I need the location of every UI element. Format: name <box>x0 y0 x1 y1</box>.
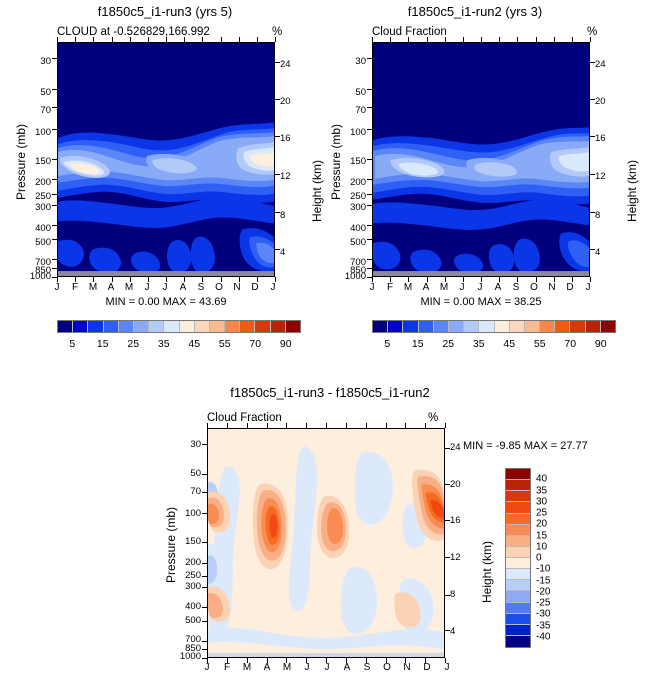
axis-tick <box>130 37 131 42</box>
panel-difference-plot <box>207 428 445 658</box>
axis-tick <box>166 37 167 42</box>
panel-run3-header: CLOUD at -0.526829,166.992 <box>57 26 210 38</box>
colorbar-cell-4 <box>434 321 449 332</box>
axis-tick <box>52 179 57 180</box>
colorbar-label-90: 90 <box>595 338 607 350</box>
axis-tick <box>517 37 518 42</box>
axis-tick <box>275 37 276 42</box>
axis-tick <box>427 277 428 282</box>
axis-tick <box>93 37 94 42</box>
htick-12: 12 <box>595 172 606 182</box>
axis-tick <box>202 587 207 588</box>
axis-tick <box>346 658 347 663</box>
axis-tick <box>517 277 518 282</box>
xlab-jan2: J <box>581 283 595 293</box>
axis-tick <box>445 484 450 485</box>
axis-tick <box>52 194 57 195</box>
colorbar-diff-cell-4 <box>506 514 530 525</box>
axis-tick <box>148 37 149 42</box>
figure-canvas: f1850c5_i1-run3 (yrs 5) CLOUD at -0.5268… <box>0 0 647 676</box>
axis-tick <box>425 423 426 428</box>
panel-run2-plot <box>372 42 590 277</box>
xlab-dec: D <box>420 663 434 673</box>
colorbar-diff-label-neg25: -25 <box>536 598 550 609</box>
axis-tick <box>52 58 57 59</box>
ytick-30: 30 <box>17 57 51 67</box>
colorbar-label-55: 55 <box>534 338 546 350</box>
colorbar-cell-13 <box>570 321 585 332</box>
colorbar-diff-cell-0 <box>506 469 530 480</box>
colorbar-cell-5 <box>449 321 464 332</box>
ytick-300: 300 <box>332 203 366 213</box>
axis-tick <box>52 268 57 269</box>
panel-run3-title: f1850c5_i1-run3 (yrs 5) <box>40 4 290 19</box>
axis-tick <box>267 658 268 663</box>
colorbar-label-25: 25 <box>127 338 139 350</box>
htick-16: 16 <box>450 516 461 526</box>
axis-tick <box>408 37 409 42</box>
colorbar-diff-cell-3 <box>506 502 530 513</box>
colorbar-label-35: 35 <box>473 338 485 350</box>
axis-tick <box>463 37 464 42</box>
xlab-feb: F <box>383 283 397 293</box>
axis-tick <box>463 277 464 282</box>
colorbar-diff-cell-7 <box>506 547 530 558</box>
xlab-nov: N <box>400 663 414 673</box>
colorbar-diff-cell-11 <box>506 591 530 602</box>
xlab-jul: J <box>473 283 487 293</box>
colorbar-cell-1 <box>388 321 403 332</box>
xlab-feb: F <box>220 663 234 673</box>
colorbar-cell-8 <box>495 321 510 332</box>
axis-tick <box>306 658 307 663</box>
colorbar-cell-0 <box>58 321 73 332</box>
axis-tick <box>52 205 57 206</box>
ytick-30: 30 <box>167 440 201 450</box>
colorbar-difference[interactable] <box>505 468 531 648</box>
axis-tick <box>445 658 446 663</box>
ytick-50: 50 <box>17 88 51 98</box>
colorbar-label-45: 45 <box>188 338 200 350</box>
xlab-sep: S <box>509 283 523 293</box>
xlab-dec: D <box>248 283 262 293</box>
colorbar-diff-label-35: 35 <box>536 485 547 496</box>
panel-difference-units: % <box>428 412 438 424</box>
axis-tick <box>221 277 222 282</box>
axis-tick <box>554 37 555 42</box>
axis-tick <box>202 513 207 514</box>
xlab-apr: A <box>104 283 118 293</box>
xlab-sep: S <box>360 663 374 673</box>
axis-tick <box>275 136 280 137</box>
xlab-oct: O <box>527 283 541 293</box>
axis-tick <box>202 576 207 577</box>
colorbar-cell-12 <box>555 321 570 332</box>
colorbar-diff-cell-2 <box>506 491 530 502</box>
colorbar-diff-cell-9 <box>506 569 530 580</box>
axis-tick <box>52 225 57 226</box>
colorbar-cell-6 <box>464 321 479 332</box>
axis-tick <box>202 542 207 543</box>
colorbar-diff-label-neg40: -40 <box>536 631 550 642</box>
axis-tick <box>247 658 248 663</box>
colorbar-cell-9 <box>195 321 210 332</box>
panel-run2-contour-field <box>373 43 589 276</box>
ytick-500: 500 <box>332 238 366 248</box>
colorbar-cell-14 <box>586 321 601 332</box>
xlab-mar: M <box>401 283 415 293</box>
colorbar-diff-label-30: 30 <box>536 496 547 507</box>
axis-tick <box>346 423 347 428</box>
colorbar-diff-label-20: 20 <box>536 519 547 530</box>
colorbar-diff-cell-12 <box>506 603 530 614</box>
axis-tick <box>286 423 287 428</box>
xlab-jan: J <box>365 283 379 293</box>
htick-4: 4 <box>450 627 455 637</box>
axis-tick <box>366 658 367 663</box>
panel-run2-units: % <box>587 26 597 38</box>
xlab-mar: M <box>240 663 254 673</box>
axis-tick <box>427 37 428 42</box>
axis-tick <box>481 277 482 282</box>
colorbar-cell-13 <box>255 321 270 332</box>
axis-tick <box>239 37 240 42</box>
axis-tick <box>445 595 450 596</box>
ytick-400: 400 <box>167 602 201 612</box>
colorbar-label-5: 5 <box>384 338 390 350</box>
axis-tick <box>405 423 406 428</box>
axis-tick <box>590 277 591 282</box>
htick-24: 24 <box>450 443 461 453</box>
axis-tick <box>536 277 537 282</box>
colorbar-cell-2 <box>403 321 418 332</box>
axis-tick <box>52 89 57 90</box>
htick-24: 24 <box>280 60 291 70</box>
axis-tick <box>367 129 372 130</box>
axis-tick <box>202 492 207 493</box>
axis-tick <box>445 448 450 449</box>
colorbar-diff-cell-13 <box>506 614 530 625</box>
xlab-aug: A <box>340 663 354 673</box>
axis-tick <box>425 658 426 663</box>
axis-tick <box>207 423 208 428</box>
ytick-1000: 1000 <box>327 272 366 282</box>
colorbar-diff-label-neg10: -10 <box>536 564 550 575</box>
colorbar-label-15: 15 <box>412 338 424 350</box>
axis-tick <box>572 37 573 42</box>
htick-20: 20 <box>595 97 606 107</box>
axis-tick <box>590 212 595 213</box>
ytick-300: 300 <box>17 203 51 213</box>
axis-tick <box>405 658 406 663</box>
axis-tick <box>257 277 258 282</box>
axis-tick <box>536 37 537 42</box>
colorbar-diff-label-25: 25 <box>536 508 547 519</box>
xlab-feb: F <box>68 283 82 293</box>
panel-run3-minmax: MIN = 0.00 MAX = 43.69 <box>57 296 275 308</box>
axis-tick <box>221 37 222 42</box>
axis-tick <box>367 205 372 206</box>
axis-tick <box>367 194 372 195</box>
colorbar-label-70: 70 <box>564 338 576 350</box>
axis-tick <box>572 277 573 282</box>
colorbar-cell-2 <box>88 321 103 332</box>
axis-tick <box>267 423 268 428</box>
colorbar-label-5: 5 <box>69 338 75 350</box>
xlab-nov: N <box>545 283 559 293</box>
colorbar-diff-label-neg30: -30 <box>536 609 550 620</box>
axis-tick <box>52 159 57 160</box>
htick-8: 8 <box>280 211 285 221</box>
htick-4: 4 <box>595 248 600 258</box>
htick-16: 16 <box>595 134 606 144</box>
axis-tick <box>52 239 57 240</box>
axis-tick <box>239 277 240 282</box>
panel-difference-minmax: MIN = -9.85 MAX = 27.77 <box>463 440 638 452</box>
axis-tick <box>554 277 555 282</box>
colorbar-diff-cell-6 <box>506 536 530 547</box>
colorbar-label-90: 90 <box>280 338 292 350</box>
axis-tick <box>52 277 57 278</box>
axis-tick <box>386 423 387 428</box>
xlab-jul: J <box>158 283 172 293</box>
axis-tick <box>202 607 207 608</box>
colorbar-diff-label-40: 40 <box>536 474 547 485</box>
ytick-1000: 1000 <box>12 272 51 282</box>
colorbar-diff-cell-15 <box>506 636 530 647</box>
ytick-70: 70 <box>17 106 51 116</box>
panel-run3-plot <box>57 42 275 277</box>
axis-tick <box>367 268 372 269</box>
colorbar-run3[interactable] <box>57 320 301 333</box>
axis-tick <box>275 212 280 213</box>
axis-tick <box>367 259 372 260</box>
axis-tick <box>326 423 327 428</box>
colorbar-cell-7 <box>164 321 179 332</box>
axis-tick <box>184 277 185 282</box>
axis-tick <box>227 658 228 663</box>
axis-tick <box>275 99 280 100</box>
axis-tick <box>367 239 372 240</box>
axis-tick <box>367 179 372 180</box>
colorbar-cell-3 <box>419 321 434 332</box>
htick-20: 20 <box>450 480 461 490</box>
colorbar-cell-9 <box>510 321 525 332</box>
panel-run2-minmax: MIN = 0.00 MAX = 38.25 <box>372 296 590 308</box>
axis-tick <box>112 277 113 282</box>
colorbar-run2[interactable] <box>372 320 616 333</box>
xlab-jul: J <box>320 663 334 673</box>
colorbar-diff-label-10: 10 <box>536 541 547 552</box>
ytick-50: 50 <box>167 469 201 479</box>
axis-tick <box>372 277 373 282</box>
axis-tick <box>202 37 203 42</box>
axis-tick <box>184 37 185 42</box>
colorbar-label-70: 70 <box>249 338 261 350</box>
colorbar-cell-11 <box>225 321 240 332</box>
axis-tick <box>445 423 446 428</box>
htick-24: 24 <box>595 60 606 70</box>
axis-tick <box>499 37 500 42</box>
xlab-jun: J <box>140 283 154 293</box>
xlab-mar: M <box>86 283 100 293</box>
axis-tick <box>202 649 207 650</box>
axis-tick <box>227 423 228 428</box>
xlab-jun: J <box>455 283 469 293</box>
panel-difference-ylabel-right: Height (km) <box>480 541 494 603</box>
colorbar-cell-6 <box>149 321 164 332</box>
colorbar-cell-10 <box>210 321 225 332</box>
axis-tick <box>445 277 446 282</box>
colorbar-cell-3 <box>104 321 119 332</box>
axis-tick <box>257 37 258 42</box>
colorbar-label-15: 15 <box>97 338 109 350</box>
axis-tick <box>499 277 500 282</box>
panel-difference-header: Cloud Fraction <box>207 412 282 424</box>
panel-difference-contour-field <box>208 429 444 657</box>
axis-tick <box>367 225 372 226</box>
xlab-jan2: J <box>440 663 454 673</box>
ytick-300: 300 <box>167 582 201 592</box>
colorbar-cell-15 <box>286 321 300 332</box>
panel-run3-contour-field <box>58 43 274 276</box>
axis-tick <box>202 563 207 564</box>
ytick-1000: 1000 <box>162 652 201 662</box>
panel-difference-ylabel-left: Pressure (mb) <box>164 507 178 583</box>
axis-tick <box>367 107 372 108</box>
ytick-500: 500 <box>17 238 51 248</box>
axis-tick <box>207 658 208 663</box>
htick-16: 16 <box>280 134 291 144</box>
colorbar-cell-1 <box>73 321 88 332</box>
colorbar-cell-11 <box>540 321 555 332</box>
xlab-sep: S <box>194 283 208 293</box>
ytick-70: 70 <box>332 106 366 116</box>
axis-tick <box>590 99 595 100</box>
colorbar-cell-5 <box>134 321 149 332</box>
axis-tick <box>306 423 307 428</box>
htick-12: 12 <box>280 172 291 182</box>
axis-tick <box>112 37 113 42</box>
axis-tick <box>367 277 372 278</box>
colorbar-cell-14 <box>271 321 286 332</box>
colorbar-diff-cell-8 <box>506 558 530 569</box>
colorbar-cell-8 <box>180 321 195 332</box>
axis-tick <box>275 249 280 250</box>
axis-tick <box>75 37 76 42</box>
colorbar-label-25: 25 <box>442 338 454 350</box>
axis-tick <box>202 658 207 659</box>
axis-tick <box>57 277 58 282</box>
axis-tick <box>275 62 280 63</box>
axis-tick <box>367 58 372 59</box>
axis-tick <box>166 277 167 282</box>
xlab-nov: N <box>230 283 244 293</box>
axis-tick <box>286 658 287 663</box>
htick-8: 8 <box>595 211 600 221</box>
axis-tick <box>590 62 595 63</box>
axis-tick <box>202 641 207 642</box>
colorbar-label-45: 45 <box>503 338 515 350</box>
xlab-oct: O <box>212 283 226 293</box>
colorbar-diff-cell-5 <box>506 525 530 536</box>
colorbar-cell-15 <box>601 321 615 332</box>
xlab-jan2: J <box>266 283 280 293</box>
axis-tick <box>372 37 373 42</box>
axis-tick <box>390 277 391 282</box>
axis-tick <box>367 159 372 160</box>
axis-tick <box>275 174 280 175</box>
colorbar-cell-7 <box>479 321 494 332</box>
axis-tick <box>408 277 409 282</box>
axis-tick <box>367 89 372 90</box>
colorbar-label-35: 35 <box>158 338 170 350</box>
panel-run2-ylabel-left: Pressure (mb) <box>329 124 343 200</box>
colorbar-diff-label-15: 15 <box>536 530 547 541</box>
colorbar-diff-cell-1 <box>506 480 530 491</box>
axis-tick <box>590 136 595 137</box>
axis-tick <box>390 37 391 42</box>
htick-20: 20 <box>280 97 291 107</box>
axis-tick <box>93 277 94 282</box>
colorbar-diff-cell-14 <box>506 625 530 636</box>
axis-tick <box>590 174 595 175</box>
xlab-may: M <box>280 663 294 673</box>
axis-tick <box>445 630 450 631</box>
colorbar-diff-label-0: 0 <box>536 553 542 564</box>
axis-tick <box>275 277 276 282</box>
xlab-aug: A <box>176 283 190 293</box>
axis-tick <box>590 249 595 250</box>
htick-12: 12 <box>450 553 461 563</box>
axis-tick <box>445 557 450 558</box>
panel-run2-ylabel-right: Height (km) <box>625 160 639 222</box>
ytick-400: 400 <box>17 224 51 234</box>
panel-run3-units: % <box>272 26 282 38</box>
colorbar-label-55: 55 <box>219 338 231 350</box>
axis-tick <box>52 129 57 130</box>
xlab-aug: A <box>491 283 505 293</box>
xlab-apr: A <box>419 283 433 293</box>
axis-tick <box>445 520 450 521</box>
colorbar-diff-label-neg35: -35 <box>536 620 550 631</box>
ytick-500: 500 <box>167 616 201 626</box>
axis-tick <box>75 277 76 282</box>
axis-tick <box>148 277 149 282</box>
xlab-may: M <box>437 283 451 293</box>
colorbar-diff-label-neg15: -15 <box>536 575 550 586</box>
colorbar-cell-0 <box>373 321 388 332</box>
axis-tick <box>202 474 207 475</box>
ytick-50: 50 <box>332 88 366 98</box>
xlab-may: M <box>122 283 136 293</box>
axis-tick <box>52 107 57 108</box>
colorbar-cell-10 <box>525 321 540 332</box>
xlab-dec: D <box>563 283 577 293</box>
ytick-70: 70 <box>167 487 201 497</box>
htick-4: 4 <box>280 248 285 258</box>
axis-tick <box>57 37 58 42</box>
htick-8: 8 <box>450 590 455 600</box>
axis-tick <box>590 37 591 42</box>
xlab-jan: J <box>50 283 64 293</box>
xlab-oct: O <box>380 663 394 673</box>
xlab-jan: J <box>200 663 214 673</box>
axis-tick <box>202 621 207 622</box>
axis-tick <box>52 259 57 260</box>
xlab-apr: A <box>260 663 274 673</box>
panel-difference-title: f1850c5_i1-run3 - f1850c5_i1-run2 <box>175 385 485 400</box>
